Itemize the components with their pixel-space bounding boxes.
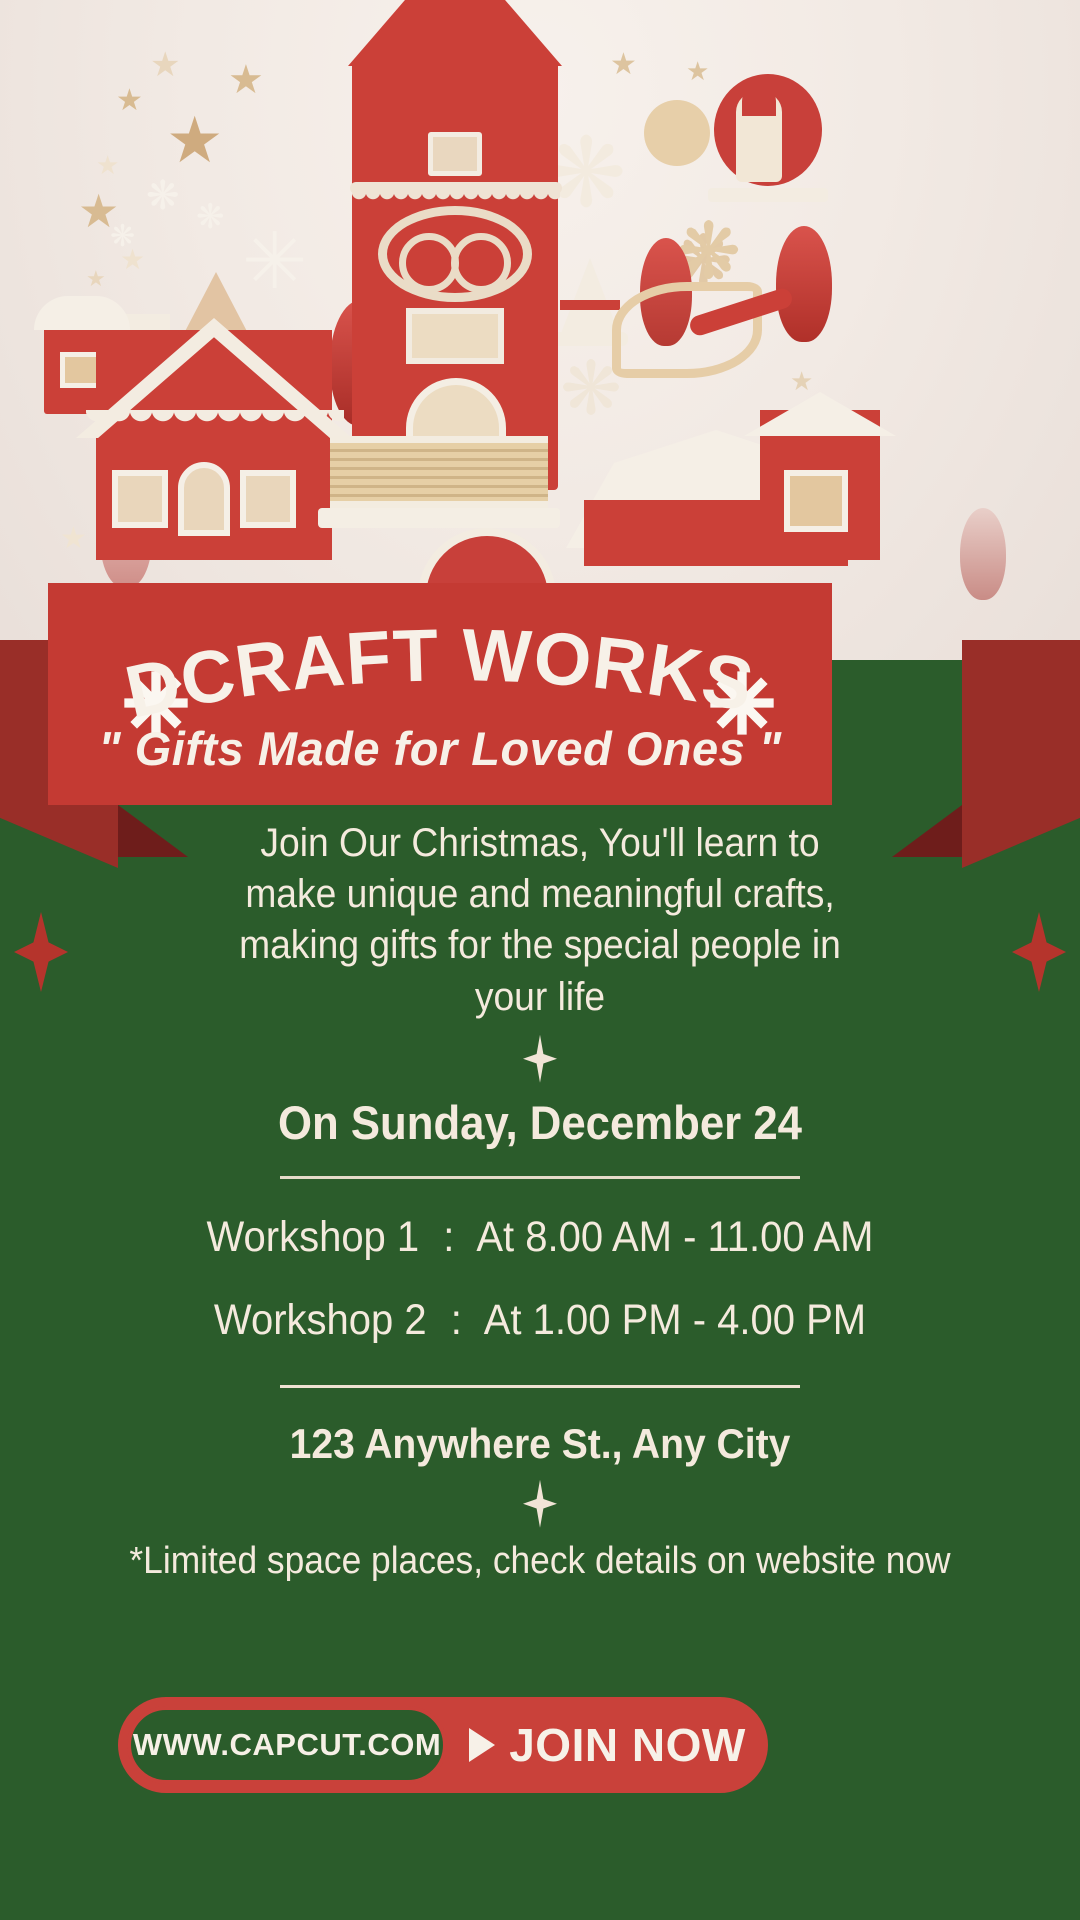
paper-star-icon: ★ xyxy=(790,368,813,394)
dormer-window xyxy=(428,132,482,176)
page-title: HANDCRAFT WORKSHOP xyxy=(48,617,832,727)
schedule-row: Workshop 2 : At 1.00 PM - 4.00 PM xyxy=(38,1296,1042,1345)
small-house-roof xyxy=(34,296,130,330)
bottle-brush-tree xyxy=(960,508,1006,600)
roof-lace-trim xyxy=(86,410,344,436)
paper-star-icon: ★ xyxy=(96,152,119,178)
schedule-label: Workshop 1 xyxy=(207,1213,420,1261)
striped-cone xyxy=(560,258,620,336)
left-house-window xyxy=(240,470,296,528)
title-banner: HANDCRAFT WORKSHOP " Gifts Made for Love… xyxy=(48,583,832,805)
schedule-separator: : xyxy=(430,1213,467,1261)
divider-rule-bottom xyxy=(280,1385,800,1388)
divider-rule-top xyxy=(280,1176,800,1179)
snowflake-icon: ❋ xyxy=(546,126,626,222)
content-section: Join Our Christmas, You'll learn to make… xyxy=(0,818,1080,1583)
snowflake-icon: ★ xyxy=(686,58,709,84)
four-point-star-icon xyxy=(523,1035,557,1083)
paper-star-icon: ★ xyxy=(166,108,223,172)
schedule-time: At 8.00 AM - 11.00 AM xyxy=(476,1213,873,1261)
wood-ornament xyxy=(644,100,710,166)
schedule-time: At 1.00 PM - 4.00 PM xyxy=(484,1296,866,1344)
website-url-pill[interactable]: WWW.CAPCUT.COM xyxy=(127,1706,447,1784)
cone-stripe xyxy=(560,300,620,310)
intro-paragraph: Join Our Christmas, You'll learn to make… xyxy=(215,818,866,1023)
paper-star-icon: ★ xyxy=(86,268,106,290)
oval-ornament-panel xyxy=(378,206,532,302)
limited-space-note: *Limited space places, check details on … xyxy=(38,1540,1042,1583)
shutter-balcony xyxy=(330,436,548,510)
snowflake-icon: ❋ xyxy=(196,200,225,234)
wooden-sleigh-swirl xyxy=(612,282,762,378)
roof-scallop xyxy=(352,192,560,206)
join-now-button[interactable]: JOIN NOW xyxy=(447,1718,768,1772)
balcony-base xyxy=(318,508,560,528)
santa-hat xyxy=(742,86,776,116)
house-window xyxy=(406,308,504,364)
event-address: 123 Anywhere St., Any City xyxy=(38,1420,1042,1468)
snowflake-icon: ❋ xyxy=(110,222,135,252)
play-triangle-icon xyxy=(469,1728,495,1762)
snowflake-icon: ❋ xyxy=(146,176,180,216)
schedule-row: Workshop 1 : At 8.00 AM - 11.00 AM xyxy=(38,1213,1042,1262)
snowflake-icon: ★ xyxy=(610,50,637,80)
bottle-brush-tree xyxy=(776,226,832,342)
left-house-window xyxy=(112,470,168,528)
schedule-label: Workshop 2 xyxy=(214,1296,427,1344)
paper-star-icon: ★ xyxy=(60,524,87,554)
join-now-label: JOIN NOW xyxy=(509,1718,746,1772)
right-house-window xyxy=(784,470,848,532)
poster-root: ★ ★ ★ ★ ★ ★ ★ ★ ★ ★ ★ ❋ ❋ ✳ ❋ ❋ ❋ ❋ ★ ★ … xyxy=(0,0,1080,1920)
paper-star-icon: ★ xyxy=(150,48,180,82)
four-point-star-icon xyxy=(523,1480,557,1528)
paper-star-icon: ★ xyxy=(228,60,264,100)
schedule-separator: : xyxy=(438,1296,475,1344)
page-subtitle: " Gifts Made for Loved Ones " xyxy=(48,721,832,776)
event-date: On Sunday, December 24 xyxy=(38,1095,1042,1150)
shelf xyxy=(708,188,828,202)
left-house-door xyxy=(178,462,230,536)
paper-star-icon: ★ xyxy=(116,86,143,116)
cta-bar[interactable]: WWW.CAPCUT.COM JOIN NOW xyxy=(118,1697,768,1793)
